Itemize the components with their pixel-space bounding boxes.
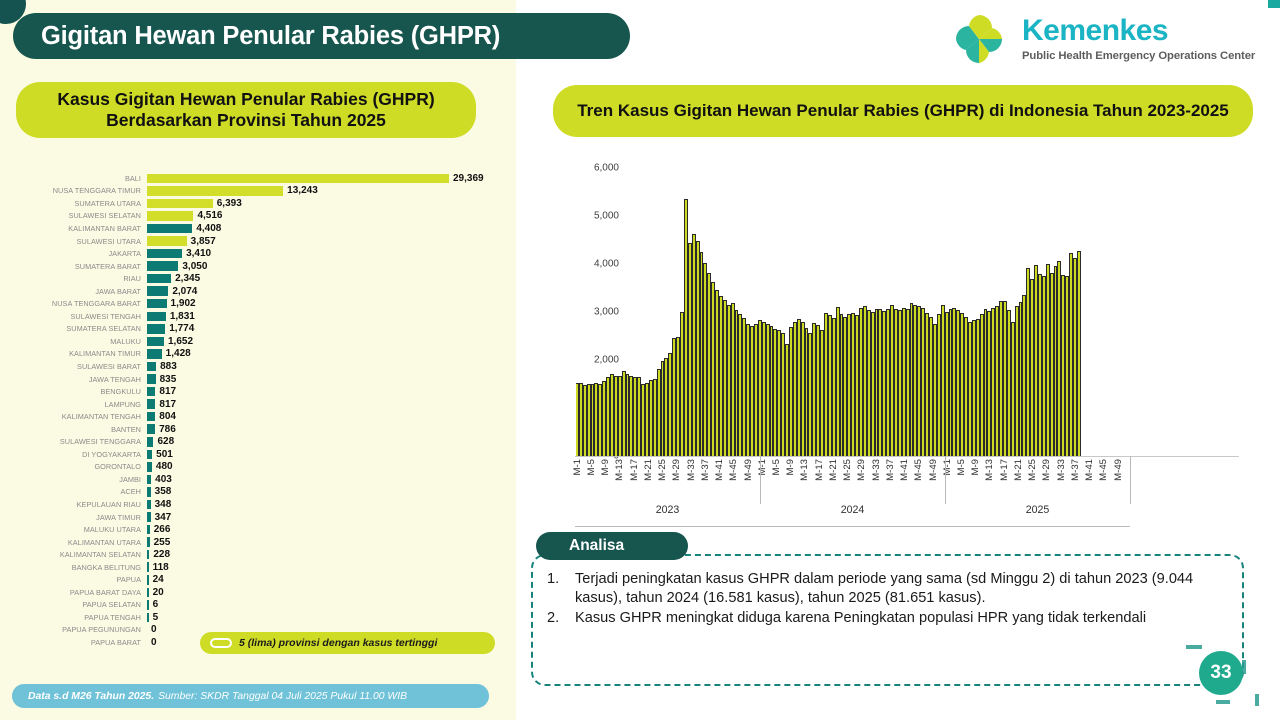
x-axis-tick: M-33 xyxy=(686,459,697,481)
province-bar xyxy=(147,299,167,309)
province-value: 1,774 xyxy=(169,323,194,334)
logo-text-block: Kemenkes Public Health Emergency Operati… xyxy=(1022,16,1255,62)
province-row: KALIMANTAN SELATAN228 xyxy=(14,548,504,561)
province-bar-cell: 6,393 xyxy=(147,198,504,209)
province-label: KALIMANTAN BARAT xyxy=(14,224,147,233)
analysis-item-text: Kasus GHPR meningkat diduga karena Penin… xyxy=(575,609,1237,628)
page-title: Gigitan Hewan Penular Rabies (GHPR) xyxy=(13,13,630,59)
province-bar xyxy=(147,437,153,447)
x-axis-tick: M-17 xyxy=(629,459,640,481)
analysis-item: 2.Kasus GHPR meningkat diduga karena Pen… xyxy=(547,609,1237,628)
province-row: SULAWESI UTARA3,857 xyxy=(14,235,504,248)
x-axis-tick: M-45 xyxy=(1098,459,1109,481)
province-bar xyxy=(147,600,149,610)
province-bar-cell: 24 xyxy=(147,574,504,585)
province-bar-cell: 118 xyxy=(147,562,504,573)
province-bar-cell: 20 xyxy=(147,587,504,598)
province-row: JAKARTA3,410 xyxy=(14,247,504,260)
province-bar-cell: 501 xyxy=(147,449,504,460)
x-axis-tick: M-5 xyxy=(586,459,597,476)
province-label: PAPUA TENGAH xyxy=(14,613,147,622)
province-label: SULAWESI UTARA xyxy=(14,237,147,246)
province-value: 255 xyxy=(154,537,171,548)
province-bar-cell: 358 xyxy=(147,486,504,497)
province-row: JAMBI403 xyxy=(14,473,504,486)
province-bar xyxy=(147,525,150,535)
province-value: 24 xyxy=(153,574,164,585)
province-label: PAPUA SELATAN xyxy=(14,600,147,609)
x-axis-labels: M-1M-5M-9M-13M-17M-21M-25M-29M-33M-37M-4… xyxy=(575,459,1239,503)
decorative-tick xyxy=(1255,694,1259,706)
province-bar xyxy=(147,424,155,434)
province-label: NUSA TENGGARA TIMUR xyxy=(14,186,147,195)
decorative-tick xyxy=(1186,645,1202,649)
x-axis-tick: M-41 xyxy=(1084,459,1095,481)
province-row: PAPUA BARAT DAYA20 xyxy=(14,586,504,599)
province-value: 1,902 xyxy=(171,298,196,309)
province-label: KALIMANTAN SELATAN xyxy=(14,550,147,559)
province-bar-cell: 348 xyxy=(147,499,504,510)
province-row: JAWA BARAT2,074 xyxy=(14,285,504,298)
province-bar xyxy=(147,575,149,585)
province-value: 3,410 xyxy=(186,248,211,259)
province-value: 3,857 xyxy=(191,236,216,247)
x-axis-tick: M-45 xyxy=(913,459,924,481)
x-axis-line xyxy=(575,456,1239,457)
province-bar xyxy=(147,261,178,271)
province-label: SULAWESI SELATAN xyxy=(14,211,147,220)
province-bar-cell: 5 xyxy=(147,612,504,623)
province-value: 1,428 xyxy=(166,348,191,359)
year-group-divider xyxy=(575,526,760,527)
province-value: 29,369 xyxy=(453,173,484,184)
x-axis-tick: M-25 xyxy=(657,459,668,481)
province-bar-cell: 255 xyxy=(147,537,504,548)
province-bar-cell: 403 xyxy=(147,474,504,485)
x-axis-tick: M-21 xyxy=(643,459,654,481)
province-value: 4,408 xyxy=(196,223,221,234)
province-value: 348 xyxy=(155,499,172,510)
province-bar-cell: 4,516 xyxy=(147,210,504,221)
province-bar-cell: 347 xyxy=(147,512,504,523)
x-axis-tick: M-21 xyxy=(828,459,839,481)
x-axis-tick: M-21 xyxy=(1013,459,1024,481)
x-axis-tick: M-49 xyxy=(743,459,754,481)
province-label: PAPUA BARAT xyxy=(14,638,147,647)
province-value: 403 xyxy=(155,474,172,485)
x-axis-tick: M-9 xyxy=(785,459,796,476)
province-row: SULAWESI TENGAH1,831 xyxy=(14,310,504,323)
province-value: 1,652 xyxy=(168,336,193,347)
province-label: RIAU xyxy=(14,274,147,283)
year-separator xyxy=(760,456,761,504)
province-value: 347 xyxy=(155,512,172,523)
province-bar-cell: 228 xyxy=(147,549,504,560)
analysis-list: 1.Terjadi peningkatan kasus GHPR dalam p… xyxy=(547,570,1237,630)
province-bar-cell: 3,050 xyxy=(147,261,504,272)
logo-name: Kemenkes xyxy=(1022,16,1255,46)
province-row: NUSA TENGGARA BARAT1,902 xyxy=(14,297,504,310)
province-bar xyxy=(147,387,155,397)
province-row: DI YOGYAKARTA501 xyxy=(14,448,504,461)
province-label: SULAWESI TENGAH xyxy=(14,312,147,321)
x-axis-tick: M-29 xyxy=(1041,459,1052,481)
legend-swatch-icon xyxy=(210,638,232,648)
province-bar-cell: 1,652 xyxy=(147,336,504,347)
province-value: 883 xyxy=(160,361,177,372)
province-bar xyxy=(147,588,149,598)
province-bar-cell: 29,369 xyxy=(147,173,504,184)
province-label: GORONTALO xyxy=(14,462,147,471)
province-label: JAWA TENGAH xyxy=(14,375,147,384)
province-bar xyxy=(147,186,283,196)
province-label: MALUKU xyxy=(14,337,147,346)
province-bar xyxy=(147,450,152,460)
province-value: 0 xyxy=(151,624,157,635)
province-value: 2,345 xyxy=(175,273,200,284)
province-value: 1,831 xyxy=(170,311,195,322)
province-row: SUMATERA SELATAN1,774 xyxy=(14,323,504,336)
footer-source: Sumber: SKDR Tanggal 04 Juli 2025 Pukul … xyxy=(158,691,407,702)
province-value: 118 xyxy=(153,562,169,573)
province-bar-cell: 1,428 xyxy=(147,348,504,359)
x-axis-tick: M-37 xyxy=(885,459,896,481)
province-bar xyxy=(147,550,149,560)
province-value: 13,243 xyxy=(287,185,318,196)
legend-label: 5 (lima) provinsi dengan kasus tertinggi xyxy=(239,637,437,649)
analysis-item-text: Terjadi peningkatan kasus GHPR dalam per… xyxy=(575,570,1237,607)
x-axis-tick: M-1 xyxy=(572,459,583,476)
province-bar xyxy=(147,487,151,497)
province-row: RIAU2,345 xyxy=(14,272,504,285)
year-separator xyxy=(945,456,946,504)
province-label: JAWA BARAT xyxy=(14,287,147,296)
year-group-label: 2025 xyxy=(945,504,1130,516)
province-row: BALI29,369 xyxy=(14,172,504,185)
province-label: PAPUA xyxy=(14,575,147,584)
province-bar-cell: 266 xyxy=(147,524,504,535)
x-axis-tick: M-9 xyxy=(970,459,981,476)
x-axis-year-groups: 202320242025 xyxy=(575,504,1239,526)
province-label: BALI xyxy=(14,174,147,183)
province-bar xyxy=(147,349,162,359)
province-bar xyxy=(147,399,155,409)
province-bar-cell: 835 xyxy=(147,374,504,385)
province-bar xyxy=(147,224,192,234)
data-source-footer: Data s.d M26 Tahun 2025. Sumber: SKDR Ta… xyxy=(12,684,489,708)
x-axis-tick: M-41 xyxy=(714,459,725,481)
x-axis-tick: M-25 xyxy=(1027,459,1038,481)
x-axis-tick: M-1 xyxy=(942,459,953,476)
province-label: PAPUA PEGUNUNGAN xyxy=(14,625,147,634)
province-bar xyxy=(147,613,149,623)
province-bar xyxy=(147,562,149,572)
province-value: 4,516 xyxy=(197,210,222,221)
province-row: PAPUA24 xyxy=(14,574,504,587)
province-bar-cell: 3,857 xyxy=(147,236,504,247)
footer-period: Data s.d M26 Tahun 2025. xyxy=(28,691,154,702)
province-value: 480 xyxy=(156,461,173,472)
province-label: SULAWESI TENGGARA xyxy=(14,437,147,446)
x-axis-tick: M-49 xyxy=(1113,459,1124,481)
province-bar xyxy=(147,475,151,485)
analysis-item-number: 2. xyxy=(547,609,575,628)
province-label: BENGKULU xyxy=(14,387,147,396)
province-label: KALIMANTAN TIMUR xyxy=(14,349,147,358)
province-row: SULAWESI TENGGARA628 xyxy=(14,435,504,448)
x-axis-tick: M-5 xyxy=(956,459,967,476)
x-axis-tick: M-37 xyxy=(700,459,711,481)
province-bar xyxy=(147,512,151,522)
province-bar-cell: 480 xyxy=(147,461,504,472)
x-axis-tick: M-33 xyxy=(871,459,882,481)
province-label: JAMBI xyxy=(14,475,147,484)
year-group-divider xyxy=(760,526,945,527)
page-number-badge: 33 xyxy=(1199,651,1243,695)
province-bar xyxy=(147,412,155,422)
province-label: KEPULAUAN RIAU xyxy=(14,500,147,509)
province-value: 817 xyxy=(159,386,176,397)
x-axis-tick: M-45 xyxy=(728,459,739,481)
province-row: PAPUA TENGAH5 xyxy=(14,611,504,624)
province-row: ACEH358 xyxy=(14,486,504,499)
province-row: NUSA TENGGARA TIMUR13,243 xyxy=(14,185,504,198)
province-bar xyxy=(147,324,165,334)
province-bar-cell: 883 xyxy=(147,361,504,372)
province-bar-cell: 6 xyxy=(147,599,504,610)
kemenkes-logo: Kemenkes Public Health Emergency Operati… xyxy=(948,10,1274,68)
province-bar xyxy=(147,249,182,259)
province-label: DI YOGYAKARTA xyxy=(14,450,147,459)
trend-bars xyxy=(575,168,1130,456)
province-value: 228 xyxy=(153,549,170,560)
province-value: 6 xyxy=(153,599,159,610)
province-row: SUMATERA BARAT3,050 xyxy=(14,260,504,273)
province-row: BENGKULU817 xyxy=(14,385,504,398)
province-bar xyxy=(147,462,152,472)
province-row: LAMPUNG817 xyxy=(14,398,504,411)
province-value: 5 xyxy=(153,612,159,623)
trend-bar xyxy=(1077,251,1081,456)
province-value: 3,050 xyxy=(182,261,207,272)
x-axis-tick: M-29 xyxy=(671,459,682,481)
year-group-label: 2024 xyxy=(760,504,945,516)
province-bar-cell: 817 xyxy=(147,386,504,397)
province-label: MALUKU UTARA xyxy=(14,525,147,534)
province-value: 817 xyxy=(159,399,176,410)
province-label: LAMPUNG xyxy=(14,400,147,409)
province-value: 358 xyxy=(155,486,172,497)
x-axis-tick: M-49 xyxy=(928,459,939,481)
province-label: KALIMANTAN UTARA xyxy=(14,538,147,547)
province-bar xyxy=(147,337,164,347)
province-bar-cell: 817 xyxy=(147,399,504,410)
province-row: MALUKU UTARA266 xyxy=(14,523,504,536)
province-label: SUMATERA SELATAN xyxy=(14,324,147,333)
province-row: SULAWESI BARAT883 xyxy=(14,360,504,373)
province-label: JAKARTA xyxy=(14,249,147,258)
analysis-item: 1.Terjadi peningkatan kasus GHPR dalam p… xyxy=(547,570,1237,607)
logo-subtitle: Public Health Emergency Operations Cente… xyxy=(1022,50,1255,62)
province-label: SUMATERA UTARA xyxy=(14,199,147,208)
province-bar xyxy=(147,236,187,246)
province-bar-cell: 4,408 xyxy=(147,223,504,234)
province-value: 266 xyxy=(154,524,171,535)
decorative-tick xyxy=(1216,700,1230,704)
x-axis-tick: M-25 xyxy=(842,459,853,481)
x-axis-tick: M-41 xyxy=(899,459,910,481)
province-bar xyxy=(147,286,168,296)
province-label: NUSA TENGGARA BARAT xyxy=(14,299,147,308)
x-axis-tick: M-13 xyxy=(799,459,810,481)
analysis-item-number: 1. xyxy=(547,570,575,607)
x-axis-tick: M-29 xyxy=(856,459,867,481)
province-row: JAWA TIMUR347 xyxy=(14,511,504,524)
province-bar-cell: 786 xyxy=(147,424,504,435)
province-value: 786 xyxy=(159,424,176,435)
province-bar xyxy=(147,362,156,372)
province-bar-cell: 2,074 xyxy=(147,286,504,297)
x-axis-tick: M-17 xyxy=(814,459,825,481)
x-axis-tick: M-13 xyxy=(984,459,995,481)
province-value: 835 xyxy=(160,374,177,385)
province-bar-cell: 2,345 xyxy=(147,273,504,284)
province-row: KALIMANTAN UTARA255 xyxy=(14,536,504,549)
x-axis-tick: M-37 xyxy=(1070,459,1081,481)
top-right-accent xyxy=(1268,0,1280,8)
province-row: JAWA TENGAH835 xyxy=(14,373,504,386)
province-row: GORONTALO480 xyxy=(14,461,504,474)
province-value: 6,393 xyxy=(217,198,242,209)
y-axis-line xyxy=(575,168,576,456)
province-bar xyxy=(147,374,156,384)
province-row: KALIMANTAN BARAT4,408 xyxy=(14,222,504,235)
province-row: BANTEN786 xyxy=(14,423,504,436)
year-separator xyxy=(1130,456,1131,504)
province-row: SULAWESI SELATAN4,516 xyxy=(14,210,504,223)
province-label: ACEH xyxy=(14,487,147,496)
x-axis-tick: M-5 xyxy=(771,459,782,476)
legend-highlight: 5 (lima) provinsi dengan kasus tertinggi xyxy=(200,632,495,654)
province-label: BANGKA BELITUNG xyxy=(14,563,147,572)
province-bar-cell: 804 xyxy=(147,411,504,422)
province-label: SULAWESI BARAT xyxy=(14,362,147,371)
x-axis-tick: M-1 xyxy=(757,459,768,476)
province-label: JAWA TIMUR xyxy=(14,513,147,522)
province-bar xyxy=(147,274,171,284)
year-group-label: 2023 xyxy=(575,504,760,516)
province-label: PAPUA BARAT DAYA xyxy=(14,588,147,597)
x-axis-tick: M-33 xyxy=(1056,459,1067,481)
analysis-tab-label: Analisa xyxy=(536,532,688,560)
province-bar-cell: 1,902 xyxy=(147,298,504,309)
province-row: KEPULAUAN RIAU348 xyxy=(14,498,504,511)
province-value: 2,074 xyxy=(172,286,197,297)
province-bar-cell: 3,410 xyxy=(147,248,504,259)
province-bar-cell: 1,831 xyxy=(147,311,504,322)
right-chart-title: Tren Kasus Gigitan Hewan Penular Rabies … xyxy=(553,85,1253,137)
province-row: PAPUA SELATAN6 xyxy=(14,599,504,612)
x-axis-tick: M-9 xyxy=(600,459,611,476)
year-group-divider xyxy=(945,526,1130,527)
province-value: 20 xyxy=(153,587,164,598)
left-chart-title: Kasus Gigitan Hewan Penular Rabies (GHPR… xyxy=(16,82,476,138)
province-row: MALUKU1,652 xyxy=(14,335,504,348)
province-bar xyxy=(147,537,150,547)
kemenkes-logo-icon xyxy=(948,11,1010,67)
x-axis-tick: M-17 xyxy=(999,459,1010,481)
province-bar xyxy=(147,312,166,322)
province-bar xyxy=(147,211,193,221)
province-row: KALIMANTAN TENGAH804 xyxy=(14,410,504,423)
x-axis-tick: M-13 xyxy=(614,459,625,481)
province-bar-chart: BALI29,369NUSA TENGGARA TIMUR13,243SUMAT… xyxy=(14,172,504,612)
province-label: SUMATERA BARAT xyxy=(14,262,147,271)
province-row: SUMATERA UTARA6,393 xyxy=(14,197,504,210)
province-bar xyxy=(147,174,449,184)
decorative-tick xyxy=(1242,660,1246,674)
province-bar-cell: 628 xyxy=(147,436,504,447)
province-row: BANGKA BELITUNG118 xyxy=(14,561,504,574)
province-value: 0 xyxy=(151,637,157,648)
province-label: BANTEN xyxy=(14,425,147,434)
province-value: 628 xyxy=(157,436,174,447)
province-value: 501 xyxy=(156,449,173,460)
province-value: 804 xyxy=(159,411,176,422)
province-bar xyxy=(147,199,213,209)
province-bar-cell: 13,243 xyxy=(147,185,504,196)
province-label: KALIMANTAN TENGAH xyxy=(14,412,147,421)
trend-chart: 01,0002,0003,0004,0005,0006,000 M-1M-5M-… xyxy=(527,160,1227,520)
province-bar xyxy=(147,500,151,510)
province-bar-cell: 1,774 xyxy=(147,323,504,334)
province-row: KALIMANTAN TIMUR1,428 xyxy=(14,348,504,361)
